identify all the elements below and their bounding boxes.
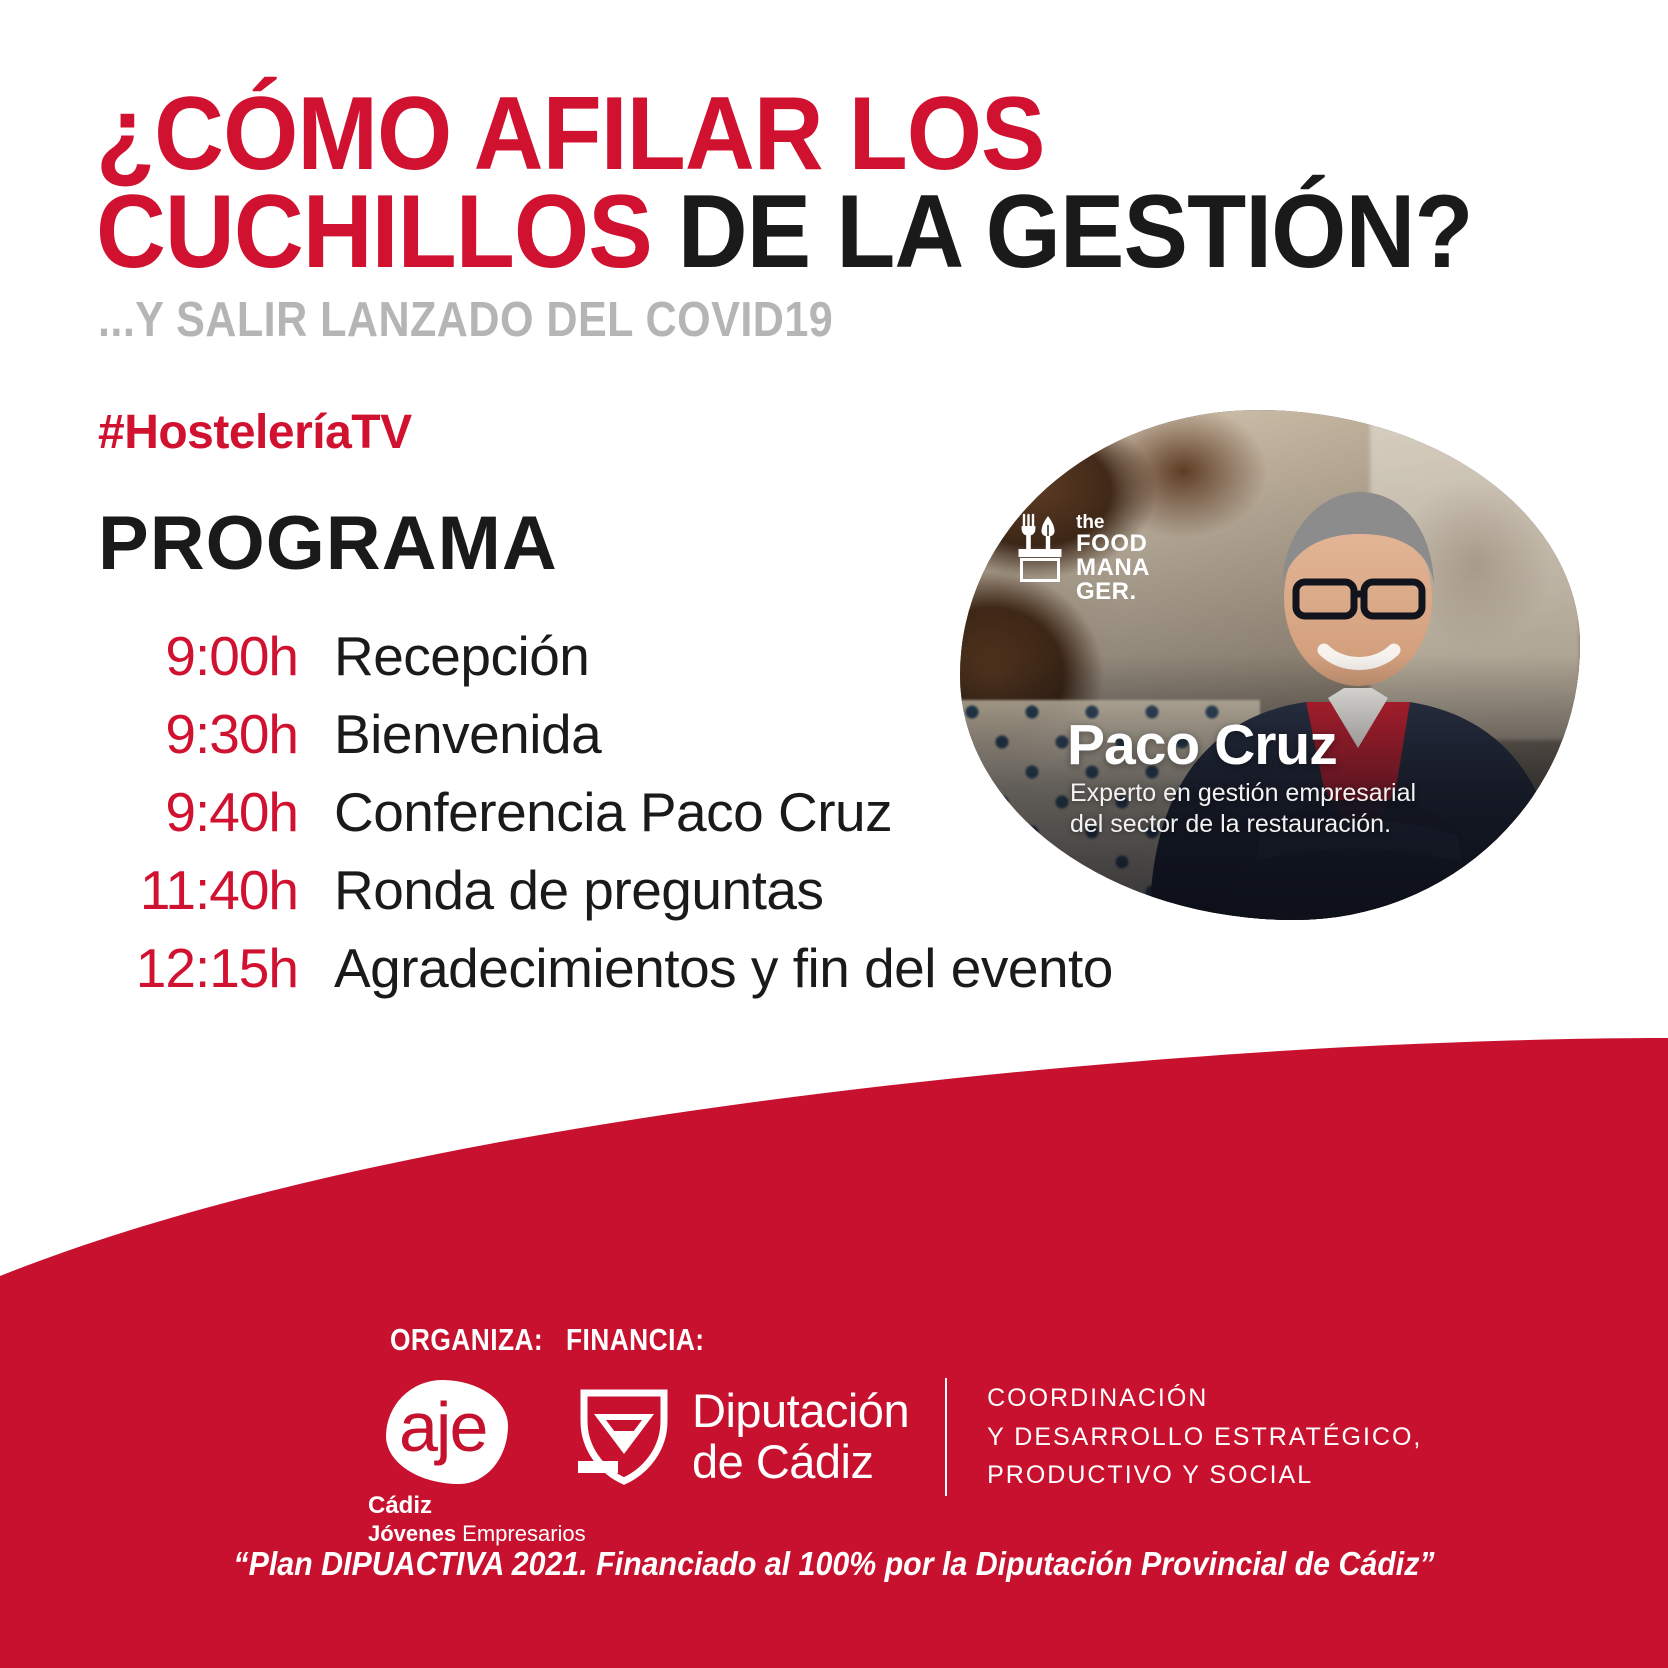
schedule-time: 11:40h <box>98 858 334 922</box>
fm-food: FOOD <box>1076 532 1150 556</box>
headline-line-1: ¿CÓMO AFILAR LOS <box>96 86 1417 184</box>
funding-caption: “Plan DIPUACTIVA 2021. Financiado al 100… <box>67 1545 1602 1583</box>
diputacion-department: COORDINACIÓN Y DESARROLLO ESTRATÉGICO, P… <box>987 1379 1422 1495</box>
aje-logo[interactable]: aje Cádiz Jóvenes Empresarios <box>368 1380 543 1545</box>
speaker-name: Paco Cruz <box>1067 712 1337 778</box>
headline-block: ¿CÓMO AFILAR LOS CUCHILLOS DE LA GESTIÓN… <box>96 86 1516 282</box>
headline-keyword: CUCHILLOS <box>96 174 652 290</box>
speaker-role: Experto en gestión empresarial del secto… <box>1070 778 1416 840</box>
schedule-label: Ronda de preguntas <box>334 858 823 922</box>
aje-city: Cádiz <box>368 1492 432 1520</box>
aje-tagline: Jóvenes Empresarios <box>368 1521 586 1547</box>
schedule-label: Recepción <box>334 624 589 688</box>
subheadline: ...Y SALIR LANZADO DEL COVID19 <box>98 292 833 348</box>
diputacion-shield-icon <box>578 1387 670 1487</box>
aje-wordmark: aje <box>399 1392 486 1462</box>
financia-label: FINANCIA: <box>566 1322 704 1358</box>
fm-mana: MANA <box>1076 556 1150 580</box>
speaker-photo: the FOOD MANA GER. Paco Cruz Experto en … <box>960 410 1580 920</box>
fork-and-pen-icon <box>1017 513 1063 583</box>
diputacion-logo[interactable]: Diputación de Cádiz COORDINACIÓN Y DESAR… <box>578 1378 1422 1496</box>
food-manager-wordmark: the FOOD MANA GER. <box>1076 513 1150 604</box>
schedule-row: 12:15h Agradecimientos y fin del evento <box>98 936 1348 1014</box>
aje-tagline-rest: Empresarios <box>456 1521 586 1546</box>
schedule-label: Agradecimientos y fin del evento <box>334 936 1113 1000</box>
schedule-label: Bienvenida <box>334 702 601 766</box>
schedule-time: 12:15h <box>98 936 334 1000</box>
diputacion-name: Diputación de Cádiz <box>692 1386 909 1488</box>
headline-line-2: CUCHILLOS DE LA GESTIÓN? <box>96 184 1417 282</box>
page-title: PROGRAMA <box>98 500 558 587</box>
logo-divider <box>945 1378 947 1496</box>
event-poster: ¿CÓMO AFILAR LOS CUCHILLOS DE LA GESTIÓN… <box>0 0 1668 1668</box>
schedule-label: Conferencia Paco Cruz <box>334 780 892 844</box>
schedule-time: 9:00h <box>98 624 334 688</box>
photo-gradient-overlay <box>960 410 1580 920</box>
headline-rest: DE LA GESTIÓN? <box>678 174 1473 290</box>
hashtag: #HosteleríaTV <box>98 405 412 460</box>
the-food-manager-logo: the FOOD MANA GER. <box>1017 513 1150 604</box>
schedule-time: 9:30h <box>98 702 334 766</box>
aje-tagline-bold: Jóvenes <box>368 1521 456 1546</box>
fm-ger: GER. <box>1076 580 1150 604</box>
schedule-time: 9:40h <box>98 780 334 844</box>
organiza-label: ORGANIZA: <box>390 1322 543 1358</box>
